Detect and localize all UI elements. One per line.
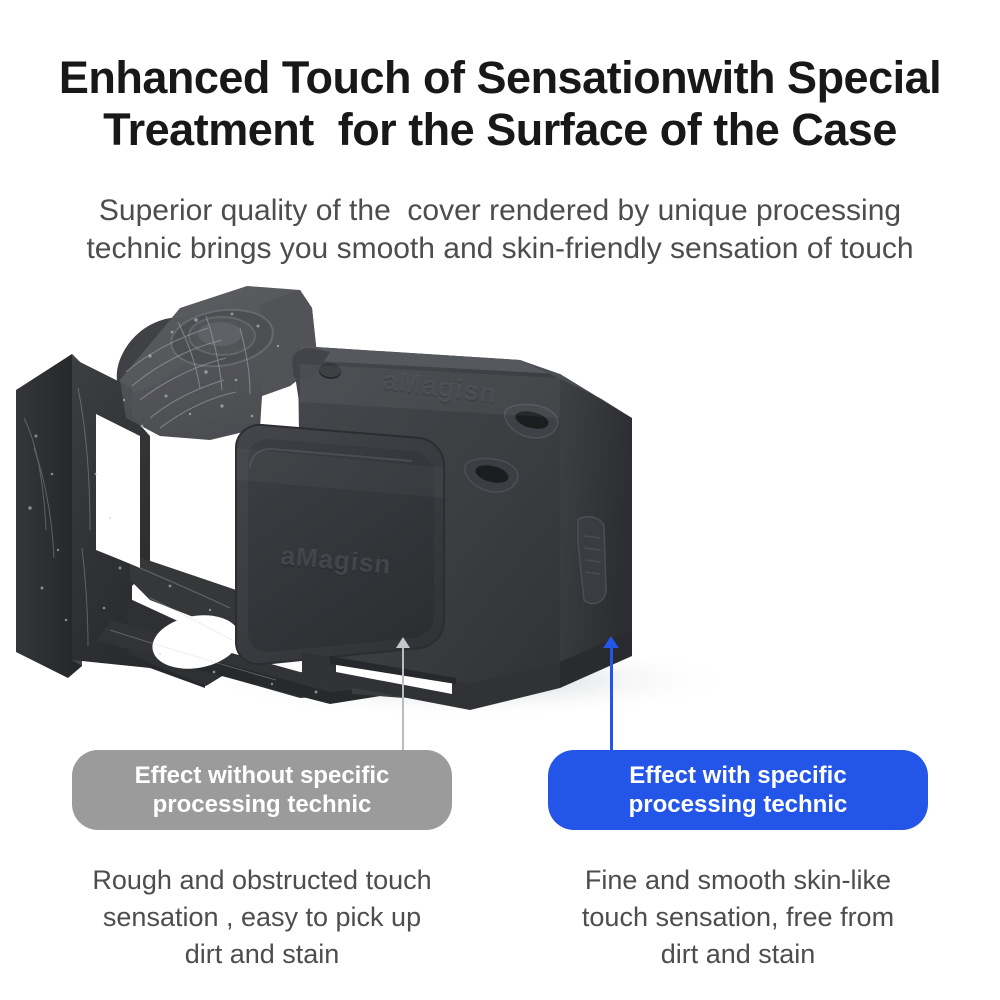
pointer-arrow-smooth xyxy=(603,636,619,648)
product-photo: aMagisn aMagisn aMagisn aMagisn xyxy=(0,268,1000,738)
pointer-line-smooth xyxy=(610,645,613,760)
badge-with-processing: Effect with specific processing technic xyxy=(548,750,928,830)
caption-without-processing: Rough and obstructed touch sensation , e… xyxy=(52,862,472,973)
page-title: Enhanced Touch of Sensationwith Special … xyxy=(0,52,1000,156)
pointer-line-rough xyxy=(402,645,404,760)
badge-without-processing: Effect without specific processing techn… xyxy=(72,750,452,830)
caption-with-processing: Fine and smooth skin-like touch sensatio… xyxy=(528,862,948,973)
product-illustration: aMagisn aMagisn aMagisn aMagisn xyxy=(0,268,1000,738)
pointer-arrow-rough xyxy=(396,637,410,648)
page-subtitle: Superior quality of the cover rendered b… xyxy=(0,192,1000,268)
rough-texture-overlay xyxy=(120,286,318,440)
smooth-case: aMagisn aMagisn aMagisn aMagisn xyxy=(222,346,632,710)
